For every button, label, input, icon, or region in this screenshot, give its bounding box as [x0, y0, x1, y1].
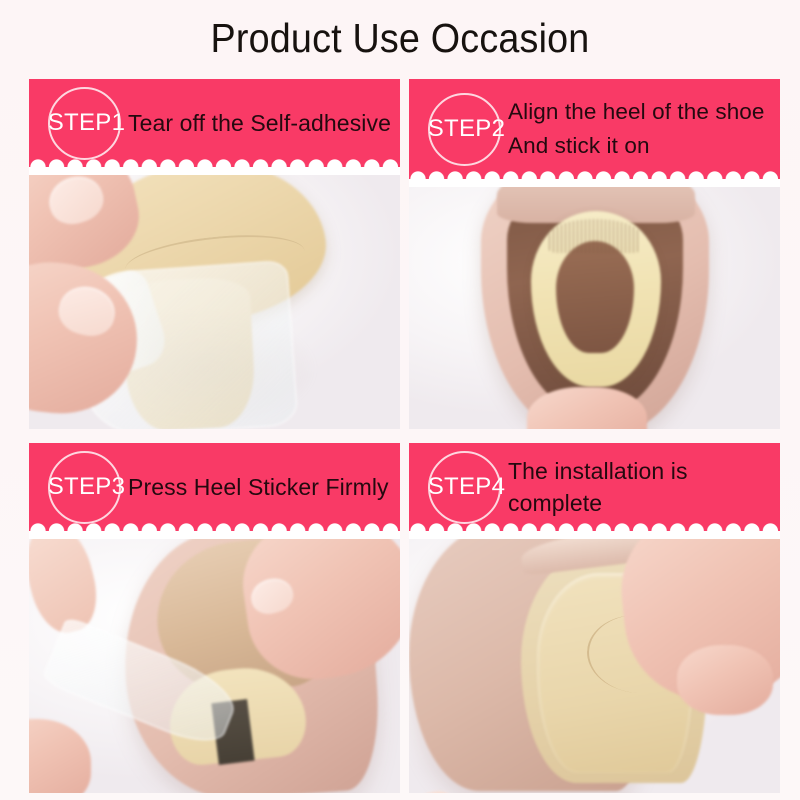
step-badge-label-3: STEP3: [48, 475, 126, 499]
step-badge-label-1: STEP1: [48, 111, 126, 135]
step-photo-4: [409, 523, 780, 793]
step-badge-4: STEP4: [428, 451, 501, 524]
step-banner-1: STEP1 Tear off the Self-adhesive: [29, 79, 400, 167]
step-panel-2[interactable]: STEP2 Align the heel of the shoe And sti…: [409, 79, 780, 429]
scallop-fill-4: [409, 531, 780, 539]
step-banner-2: STEP2 Align the heel of the shoe And sti…: [409, 79, 780, 179]
fingers: [677, 645, 773, 715]
step-banner-4: STEP4 The installation is complete: [409, 443, 780, 531]
infographic-page: Product Use Occasion STEP1 Tear off the …: [0, 0, 800, 800]
step-photo-3: [29, 523, 400, 793]
scallop-fill-2: [409, 179, 780, 187]
step-badge-1: STEP1: [48, 87, 121, 160]
step-text-3: Press Heel Sticker Firmly: [128, 471, 389, 503]
step-panel-4[interactable]: STEP4 The installation is complete: [409, 443, 780, 793]
step-panel-3[interactable]: STEP3 Press Heel Sticker Firmly: [29, 443, 400, 793]
step-text-1: Tear off the Self-adhesive: [128, 107, 391, 139]
step-photo-1: [29, 159, 400, 429]
step-badge-label-2: STEP2: [428, 117, 506, 141]
step-badge-3: STEP3: [48, 451, 121, 524]
step-text-2: Align the heel of the shoe And stick it …: [508, 95, 765, 163]
step-badge-label-4: STEP4: [428, 475, 506, 499]
step-badge-2: STEP2: [428, 93, 501, 166]
step-banner-3: STEP3 Press Heel Sticker Firmly: [29, 443, 400, 531]
steps-grid: STEP1 Tear off the Self-adhesive: [29, 79, 780, 793]
scallop-fill-1: [29, 167, 400, 175]
step-panel-1[interactable]: STEP1 Tear off the Self-adhesive: [29, 79, 400, 429]
step-photo-2: [409, 171, 780, 429]
step-text-4: The installation is complete: [508, 455, 780, 519]
page-title: Product Use Occasion: [32, 14, 768, 62]
scallop-fill-3: [29, 531, 400, 539]
